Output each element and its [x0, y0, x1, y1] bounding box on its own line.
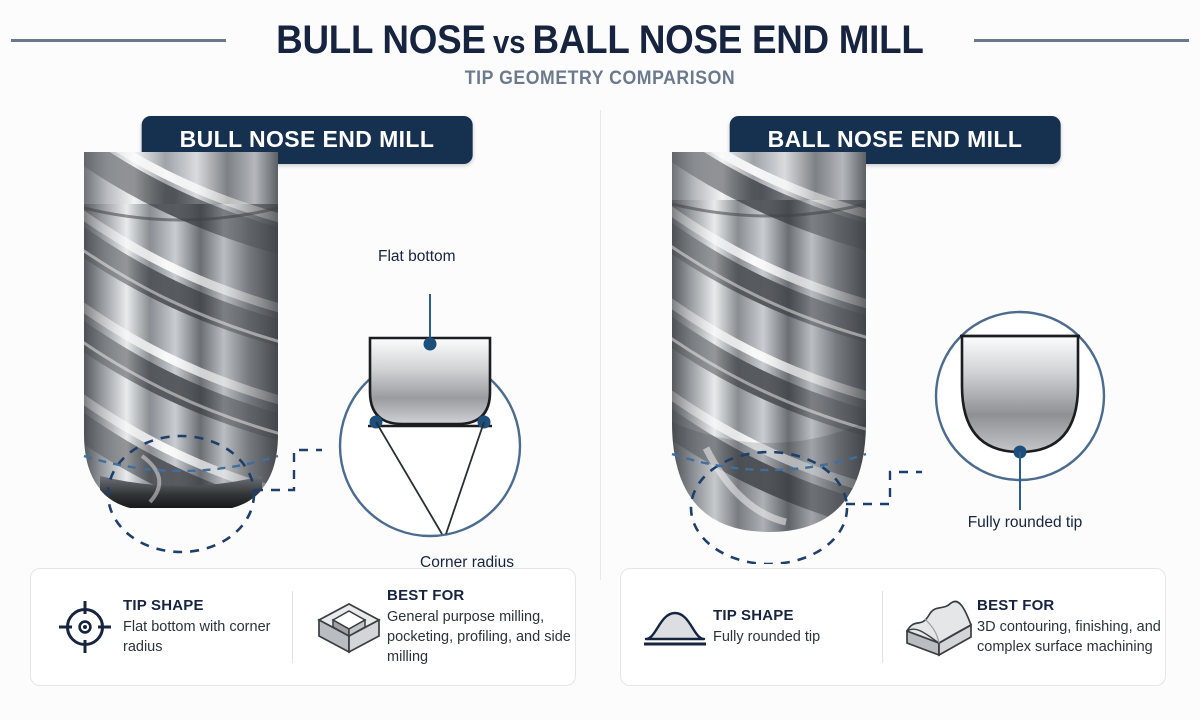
page-title-vs: vs — [486, 24, 533, 60]
panel-ball-nose: BALL NOSE END MILL — [610, 104, 1180, 564]
square-pocket-icon — [311, 596, 387, 658]
callout-label-fully-rounded-tip: Fully rounded tip — [910, 514, 1140, 532]
info-heading-best-for-bull: BEST FOR — [387, 587, 575, 604]
panel-divider — [600, 110, 601, 580]
callout-flat-bottom — [424, 294, 437, 351]
info-text-best-for-ball: BEST FOR 3D contouring, finishing, and c… — [977, 597, 1165, 657]
dome-profile-icon — [637, 603, 713, 651]
info-body-best-for-ball: 3D contouring, finishing, and complex su… — [977, 617, 1165, 657]
title-rule-right — [974, 39, 1189, 42]
header: BULL NOSEvsBALL NOSE END MILL TIP GEOMET… — [0, 0, 1200, 100]
info-card-ball-nose: TIP SHAPE Fully rounded tip BEST FOR 3D … — [620, 568, 1166, 686]
info-heading-tip-shape-bull: TIP SHAPE — [123, 597, 292, 614]
info-body-tip-shape-bull: Flat bottom with corner radius — [123, 617, 292, 657]
panel-bull-nose: BULL NOSE END MILL — [22, 104, 592, 564]
bull-nose-illustration — [22, 104, 592, 564]
title-rule-left — [11, 39, 226, 42]
ball-nose-illustration — [610, 104, 1180, 564]
page-subtitle: TIP GEOMETRY COMPARISON — [42, 68, 1158, 90]
page-title: BULL NOSEvsBALL NOSE END MILL — [276, 18, 923, 63]
info-col-tip-shape-ball: TIP SHAPE Fully rounded tip — [621, 569, 882, 685]
title-row: BULL NOSEvsBALL NOSE END MILL — [0, 18, 1200, 63]
page-title-part2: BALL NOSE END MILL — [533, 18, 924, 62]
info-text-tip-shape-ball: TIP SHAPE Fully rounded tip — [713, 607, 882, 647]
infographic-root: BULL NOSEvsBALL NOSE END MILL TIP GEOMET… — [0, 0, 1200, 720]
info-text-tip-shape-bull: TIP SHAPE Flat bottom with corner radius — [123, 597, 292, 657]
info-text-best-for-bull: BEST FOR General purpose milling, pocket… — [387, 587, 575, 667]
info-body-best-for-bull: General purpose milling, pocketing, prof… — [387, 607, 575, 667]
info-heading-tip-shape-ball: TIP SHAPE — [713, 607, 882, 624]
bull-nose-detail-circle — [340, 338, 520, 536]
wavy-surface-icon — [901, 595, 977, 659]
info-heading-best-for-ball: BEST FOR — [977, 597, 1165, 614]
ball-nose-tool-body — [646, 106, 882, 532]
callout-label-flat-bottom: Flat bottom — [378, 248, 558, 266]
bull-nose-tool-body — [58, 110, 294, 522]
info-card-bull-nose: TIP SHAPE Flat bottom with corner radius… — [30, 568, 576, 686]
page-title-part1: BULL NOSE — [276, 18, 485, 62]
info-body-tip-shape-ball: Fully rounded tip — [713, 627, 882, 647]
info-col-best-for-ball: BEST FOR 3D contouring, finishing, and c… — [883, 569, 1165, 685]
info-col-tip-shape-bull: TIP SHAPE Flat bottom with corner radius — [31, 569, 292, 685]
crosshair-target-icon — [47, 598, 123, 656]
info-col-best-for-bull: BEST FOR General purpose milling, pocket… — [293, 569, 575, 685]
